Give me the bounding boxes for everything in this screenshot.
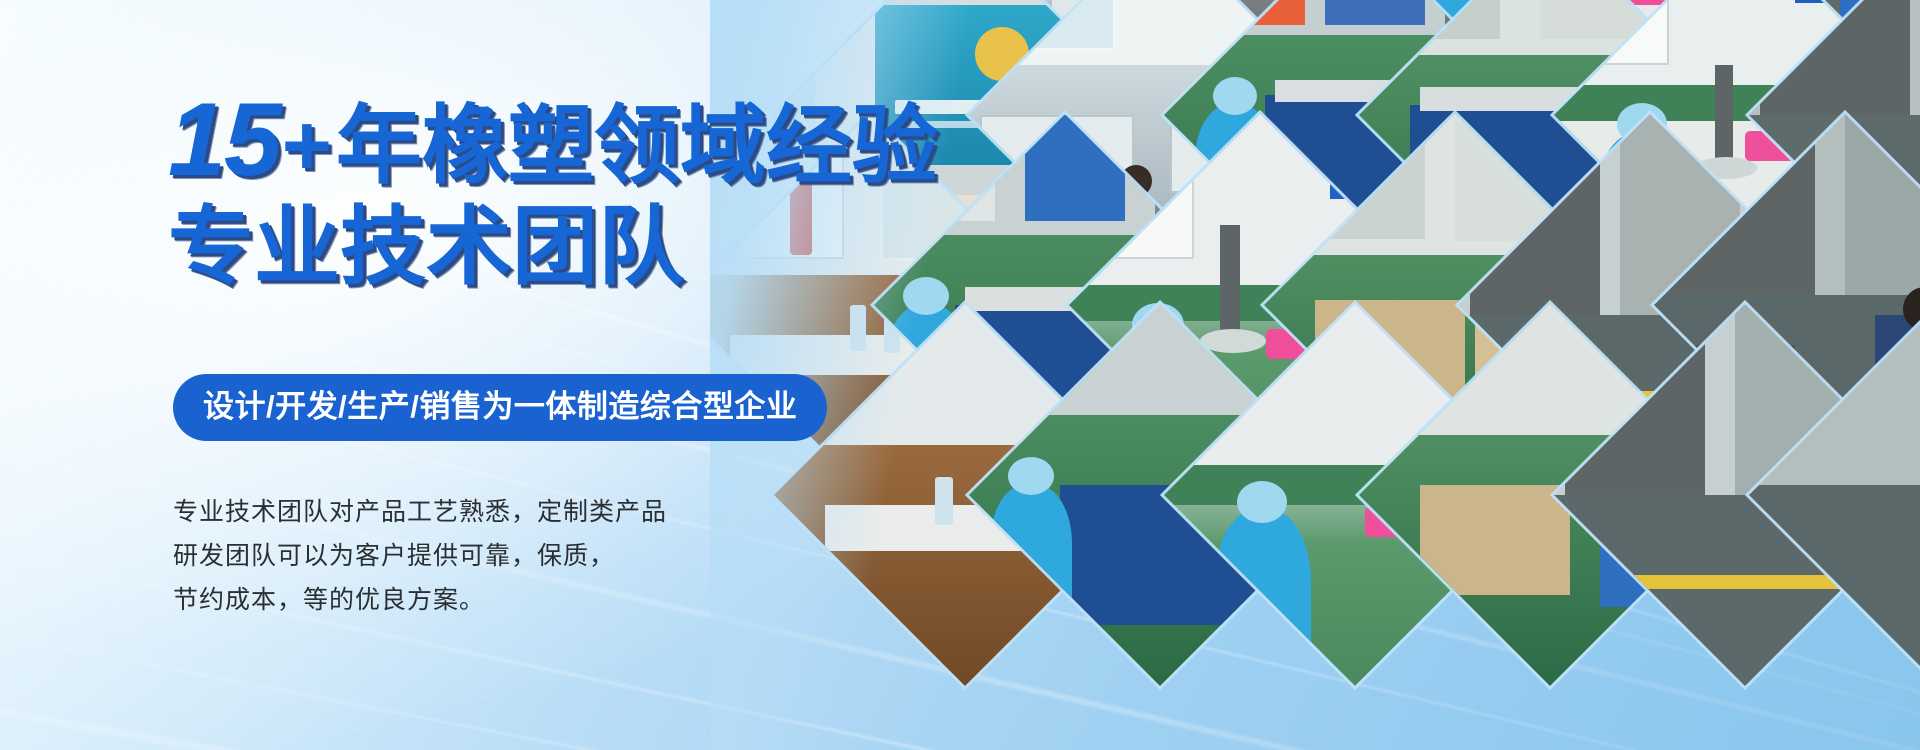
headline-line-1-text: 年橡塑领域经验	[336, 98, 938, 194]
tagline-pill: 设计/开发/生产/销售为一体制造综合型企业	[173, 374, 827, 441]
headline-line-1: 15+年橡塑领域经验	[168, 88, 928, 192]
headline-plus-sign: +	[282, 98, 332, 194]
description-paragraph: 专业技术团队对产品工艺熟悉，定制类产品 研发团队可以为客户提供可靠，保质， 节约…	[173, 490, 667, 622]
headline-number: 15	[168, 82, 280, 198]
description-line-2: 研发团队可以为客户提供可靠，保质，	[173, 534, 667, 578]
promo-banner: 15+年橡塑领域经验 专业技术团队 设计/开发/生产/销售为一体制造综合型企业 …	[0, 0, 1920, 750]
description-line-3: 节约成本，等的优良方案。	[173, 578, 667, 622]
headline-line-2: 专业技术团队	[168, 204, 928, 290]
description-line-1: 专业技术团队对产品工艺熟悉，定制类产品	[173, 490, 667, 534]
banner-content: 15+年橡塑领域经验 专业技术团队 设计/开发/生产/销售为一体制造综合型企业 …	[168, 0, 928, 750]
headline: 15+年橡塑领域经验 专业技术团队	[168, 88, 928, 290]
